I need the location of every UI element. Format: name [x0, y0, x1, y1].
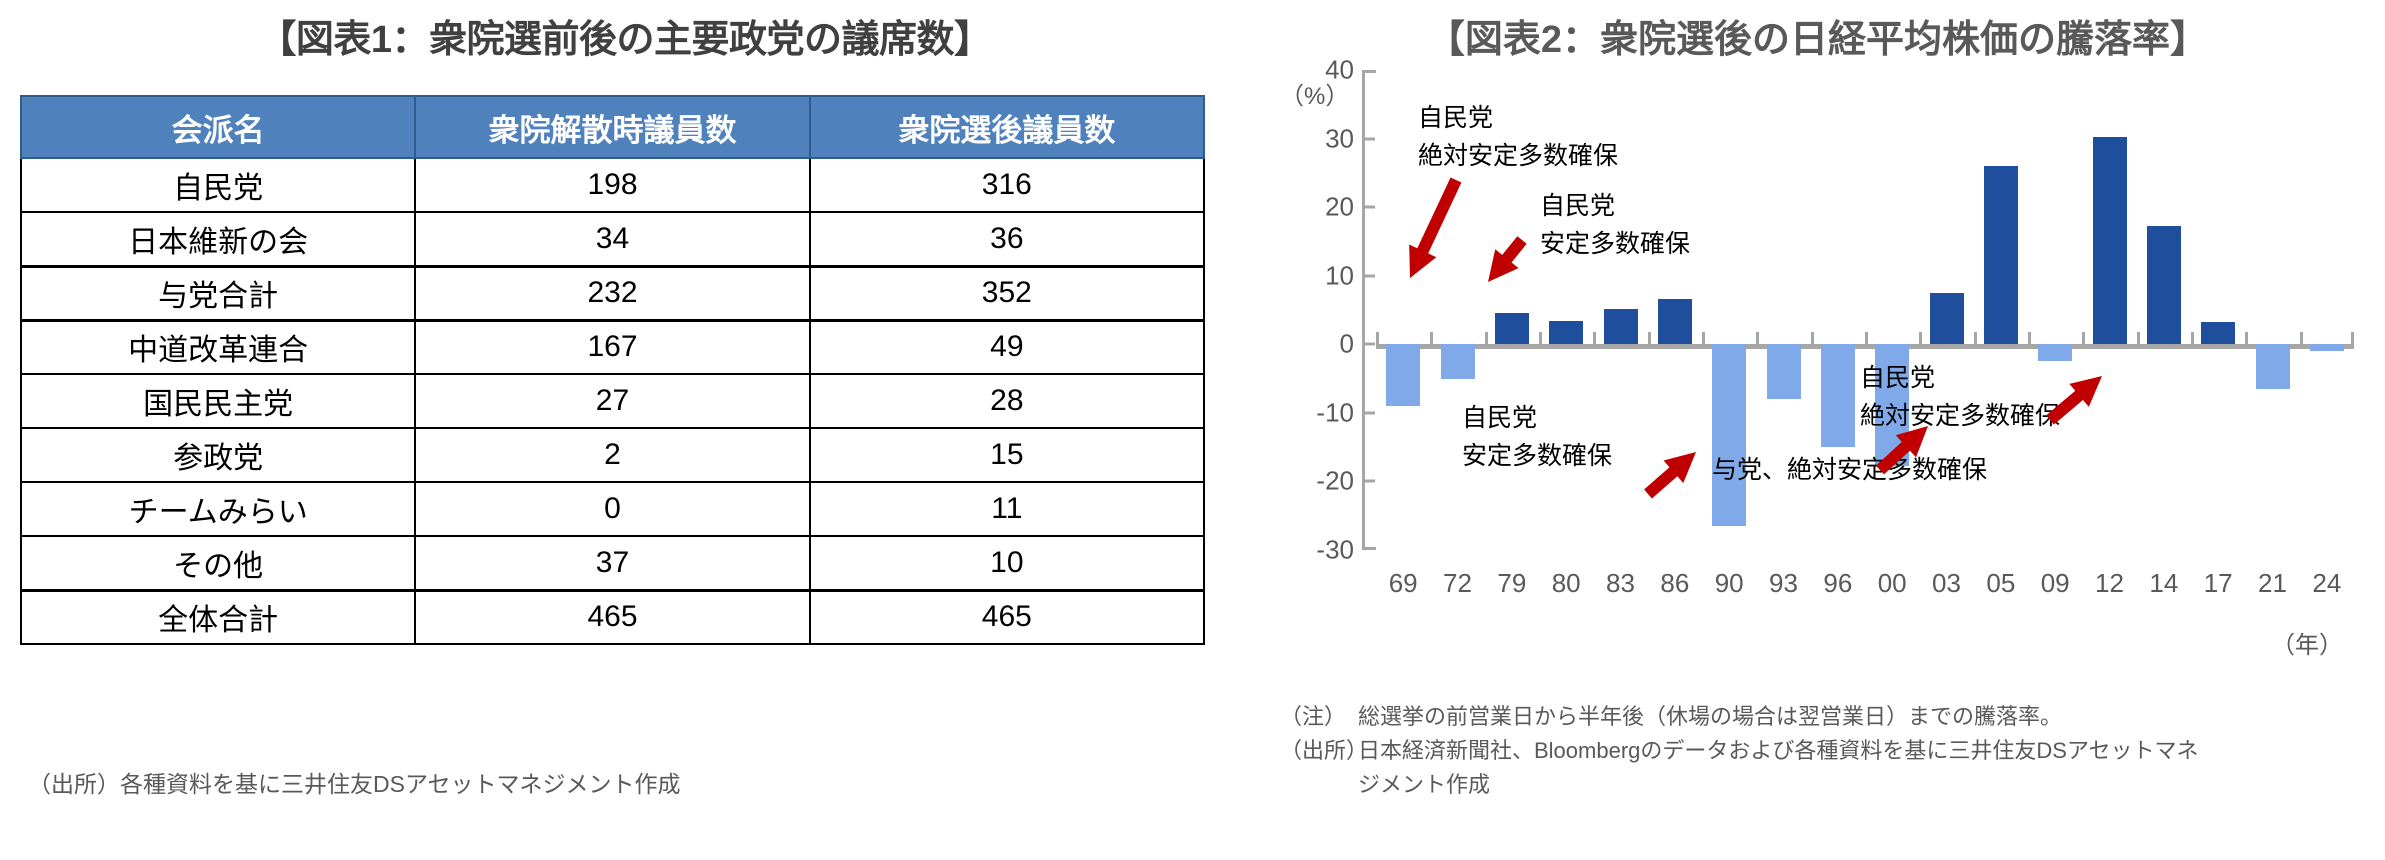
note-text-source: 日本経済新聞社、Bloombergのデータおよび各種資料を基に三井住友DSアセッ… [1358, 734, 2385, 768]
figure1-source-note: （出所）各種資料を基に三井住友DSアセットマネジメント作成 [28, 765, 681, 799]
cell-party-name: チームみらい [21, 482, 415, 536]
cell-party-name: その他 [21, 536, 415, 590]
note-text-continuation: ジメント作成 [1280, 768, 2385, 802]
table-row: 与党合計232352 [21, 266, 1204, 320]
figure2-notes: （注） 総選挙の前営業日から半年後（休場の場合は翌営業日）までの騰落率。 （出所… [1280, 700, 2385, 802]
table-row: 参政党215 [21, 428, 1204, 482]
figure2-panel: 【図表2：衆院選後の日経平均株価の騰落率】 （%） （年） 403020100-… [1250, 0, 2385, 860]
annotation-arrows-layer [1250, 70, 2385, 690]
note-row-source: （出所） 日本経済新聞社、Bloombergのデータおよび各種資料を基に三井住友… [1280, 734, 2385, 768]
note-tag-source: （出所） [1280, 734, 1358, 768]
cell-seats-after: 352 [810, 266, 1204, 320]
cell-seats-after: 316 [810, 158, 1204, 212]
cell-party-name: 与党合計 [21, 266, 415, 320]
table-row: 日本維新の会3436 [21, 212, 1204, 266]
table-row: チームみらい011 [21, 482, 1204, 536]
column-header-after: 衆院選後議員数 [810, 96, 1204, 158]
cell-seats-after: 10 [810, 536, 1204, 590]
cell-party-name: 全体合計 [21, 590, 415, 644]
note-text-chu: 総選挙の前営業日から半年後（休場の場合は翌営業日）までの騰落率。 [1358, 700, 2385, 734]
cell-seats-before: 0 [415, 482, 809, 536]
cell-party-name: 参政党 [21, 428, 415, 482]
cell-seats-after: 11 [810, 482, 1204, 536]
cell-seats-after: 15 [810, 428, 1204, 482]
table-row: その他3710 [21, 536, 1204, 590]
seat-count-table: 会派名 衆院解散時議員数 衆院選後議員数 自民党198316日本維新の会3436… [20, 95, 1205, 645]
cell-seats-before: 465 [415, 590, 809, 644]
slide-root: 【図表1：衆院選前後の主要政党の議席数】 会派名 衆院解散時議員数 衆院選後議員… [0, 0, 2385, 860]
table-row: 全体合計465465 [21, 590, 1204, 644]
bar-chart: （%） （年） 403020100-10-20-30 6972798083869… [1250, 70, 2385, 690]
column-header-before: 衆院解散時議員数 [415, 96, 809, 158]
cell-seats-after: 28 [810, 374, 1204, 428]
cell-seats-after: 49 [810, 320, 1204, 374]
table-header-row: 会派名 衆院解散時議員数 衆院選後議員数 [21, 96, 1204, 158]
arrow-shaft [1880, 444, 1909, 470]
cell-party-name: 国民民主党 [21, 374, 415, 428]
figure1-panel: 【図表1：衆院選前後の主要政党の議席数】 会派名 衆院解散時議員数 衆院選後議員… [0, 0, 1250, 860]
arrow-shaft [2050, 393, 2082, 420]
arrow-to-1969-bar [1409, 180, 1456, 278]
arrow-shaft [1421, 180, 1456, 254]
cell-seats-before: 198 [415, 158, 809, 212]
cell-seats-before: 232 [415, 266, 809, 320]
arrow-to-2021-bar [2050, 376, 2102, 420]
cell-seats-before: 37 [415, 536, 809, 590]
column-header-party: 会派名 [21, 96, 415, 158]
note-tag-chu: （注） [1280, 700, 1358, 734]
table-row: 中道改革連合16749 [21, 320, 1204, 374]
cell-seats-before: 2 [415, 428, 809, 482]
figure1-title: 【図表1：衆院選前後の主要政党の議席数】 [0, 8, 1250, 63]
arrow-shaft [1504, 240, 1522, 262]
note-row-chu: （注） 総選挙の前営業日から半年後（休場の場合は翌営業日）までの騰落率。 [1280, 700, 2385, 734]
cell-seats-after: 465 [810, 590, 1204, 644]
table-row: 国民民主党2728 [21, 374, 1204, 428]
arrow-to-1972-bar [1488, 240, 1522, 282]
cell-seats-before: 167 [415, 320, 809, 374]
table-row: 自民党198316 [21, 158, 1204, 212]
cell-seats-before: 34 [415, 212, 809, 266]
arrow-to-2000-bar [1880, 426, 1928, 470]
arrow-to-1990-bar [1648, 452, 1696, 494]
figure2-title: 【図表2：衆院選後の日経平均株価の騰落率】 [1250, 8, 2385, 63]
arrow-shaft [1648, 469, 1676, 494]
cell-party-name: 日本維新の会 [21, 212, 415, 266]
cell-party-name: 中道改革連合 [21, 320, 415, 374]
cell-seats-before: 27 [415, 374, 809, 428]
cell-seats-after: 36 [810, 212, 1204, 266]
cell-party-name: 自民党 [21, 158, 415, 212]
